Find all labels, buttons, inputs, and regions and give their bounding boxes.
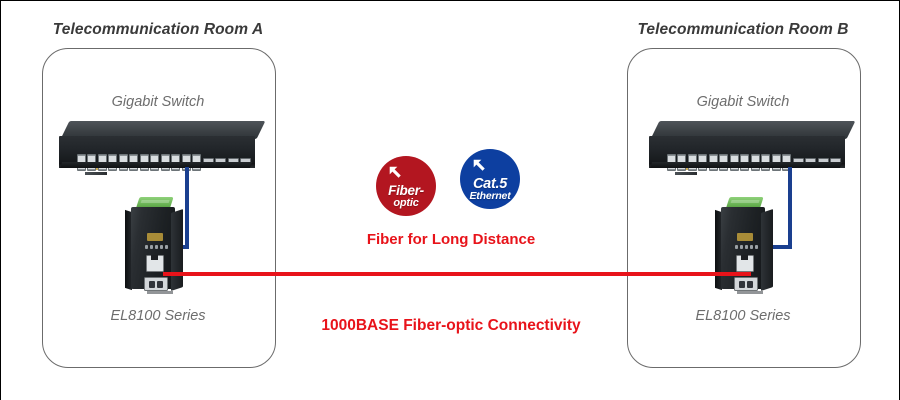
room-a-title: Telecommunication Room A bbox=[42, 21, 274, 39]
status-led bbox=[150, 245, 153, 249]
status-led bbox=[165, 245, 168, 249]
fiber-optic-badge: Fiber- optic bbox=[376, 156, 436, 216]
arrow-up-left-icon bbox=[472, 158, 489, 175]
sc-connector-b bbox=[747, 281, 753, 288]
status-led bbox=[155, 245, 158, 249]
converter-fiber-sc-port bbox=[144, 277, 168, 291]
converter-side-panel bbox=[171, 209, 183, 291]
room-b-title: Telecommunication Room B bbox=[627, 21, 859, 39]
room-b-converter-label: EL8100 Series bbox=[627, 308, 859, 324]
status-led bbox=[740, 245, 743, 249]
switch-chassis-base bbox=[60, 162, 252, 168]
converter-front-panel bbox=[131, 207, 175, 289]
switch-chassis-base bbox=[650, 162, 842, 168]
sc-connector-b bbox=[157, 281, 163, 288]
room-a-switch-label: Gigabit Switch bbox=[42, 94, 274, 110]
fiber-optic-link-cable bbox=[163, 272, 751, 276]
converter-side-panel bbox=[761, 209, 773, 291]
sc-connector-a bbox=[149, 281, 155, 288]
cat5-ethernet-badge: Cat.5 Ethernet bbox=[460, 149, 520, 209]
arrow-up-left-icon bbox=[388, 165, 405, 182]
cat5-ethernet-badge-line2: Ethernet bbox=[470, 190, 511, 202]
converter-led-row bbox=[145, 245, 168, 249]
ethernet-cable-b-vertical bbox=[788, 167, 792, 249]
converter-rj45-port bbox=[146, 255, 164, 272]
cat5-ethernet-badge-line1: Cat.5 bbox=[473, 178, 507, 190]
status-led bbox=[145, 245, 148, 249]
converter-front-panel bbox=[721, 207, 765, 289]
converter-brand-logo-icon bbox=[147, 233, 163, 241]
room-b-switch-label: Gigabit Switch bbox=[627, 94, 859, 110]
converter-led-row bbox=[735, 245, 758, 249]
status-led bbox=[755, 245, 758, 249]
fiber-connectivity-caption: 1000BASE Fiber-optic Connectivity bbox=[281, 317, 621, 335]
room-a-gigabit-switch bbox=[59, 121, 269, 173]
status-led bbox=[745, 245, 748, 249]
converter-fiber-sc-port bbox=[734, 277, 758, 291]
status-led bbox=[735, 245, 738, 249]
switch-led-strip bbox=[675, 172, 697, 175]
fiber-long-distance-caption: Fiber for Long Distance bbox=[301, 231, 601, 248]
sc-connector-a bbox=[739, 281, 745, 288]
switch-front-panel bbox=[59, 136, 255, 164]
converter-model-print bbox=[737, 291, 763, 294]
fiber-optic-badge-line1: Fiber- bbox=[388, 185, 424, 197]
converter-brand-logo-icon bbox=[737, 233, 753, 241]
fiber-optic-badge-line2: optic bbox=[393, 197, 418, 209]
room-a-converter-label: EL8100 Series bbox=[42, 308, 274, 324]
status-led bbox=[750, 245, 753, 249]
switch-led-strip bbox=[85, 172, 107, 175]
converter-model-print bbox=[147, 291, 173, 294]
switch-front-panel bbox=[649, 136, 845, 164]
converter-rj45-port bbox=[736, 255, 754, 272]
room-b-gigabit-switch bbox=[649, 121, 859, 173]
status-led bbox=[160, 245, 163, 249]
network-diagram-canvas: Telecommunication Room A Gigabit Switch bbox=[0, 0, 900, 400]
